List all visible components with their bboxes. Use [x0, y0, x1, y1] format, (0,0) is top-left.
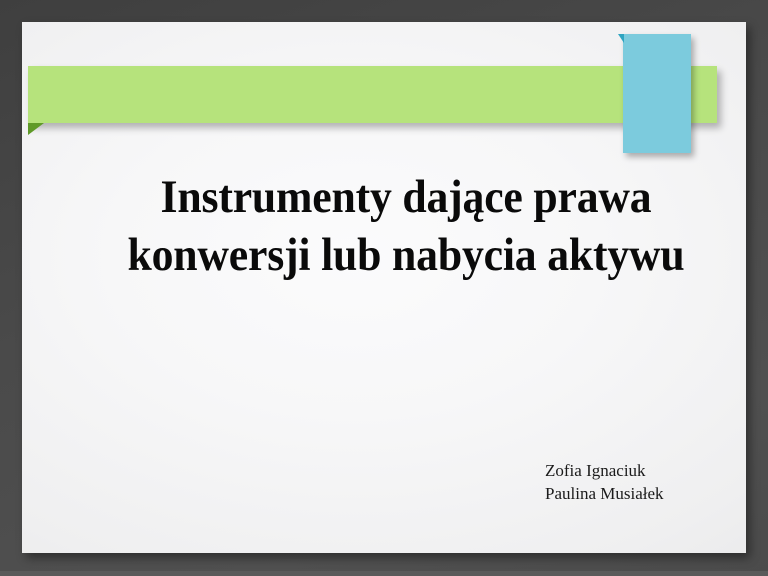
- decorative-green-bar: [28, 66, 717, 123]
- viewer-bottom-strip: [0, 571, 768, 576]
- decorative-green-fold-icon: [28, 123, 44, 135]
- presentation-viewer: Instrumenty dające prawa konwersji lub n…: [0, 0, 768, 576]
- decorative-blue-fold-icon: [618, 34, 624, 43]
- authors-list: Zofia Ignaciuk Paulina Musiałek: [545, 459, 746, 505]
- page-title-line-1: Instrumenty dające prawa: [69, 168, 742, 226]
- page-title-line-2: konwersji lub nabycia aktywu: [69, 226, 742, 284]
- page-title: Instrumenty dające prawa konwersji lub n…: [44, 168, 746, 284]
- title-slide[interactable]: Instrumenty dające prawa konwersji lub n…: [22, 22, 746, 553]
- decorative-blue-block: [623, 34, 691, 153]
- author-name-2: Paulina Musiałek: [545, 482, 746, 505]
- author-name-1: Zofia Ignaciuk: [545, 459, 746, 482]
